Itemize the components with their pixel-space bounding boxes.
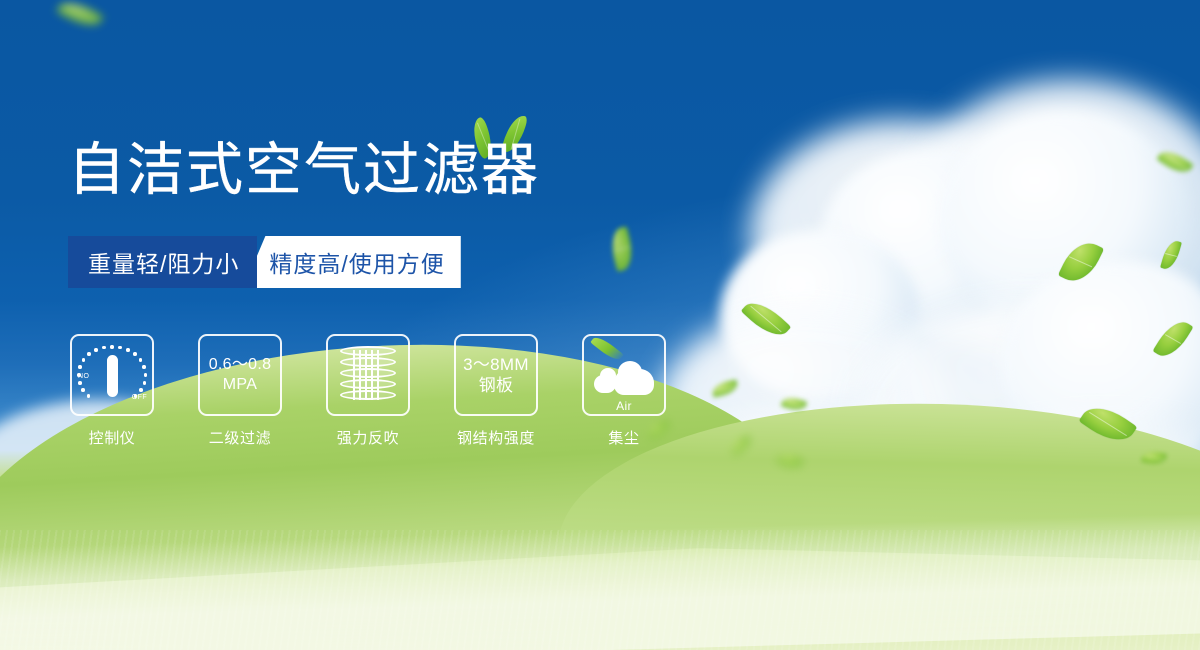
feature-label: 集尘 <box>608 427 639 448</box>
air-label: Air <box>592 399 656 413</box>
gauge-dial-icon: NO OFF <box>70 334 154 416</box>
feature-label: 二级过滤 <box>209 427 271 448</box>
field-texture <box>0 530 1200 650</box>
tag-left: 重量轻/阻力小 <box>68 236 257 288</box>
feature-item-control: NO OFF 控制仪 <box>70 334 154 448</box>
feature-item-pressure: 0.6～0.8 MPA 二级过滤 <box>198 334 282 448</box>
feature-item-steel: 3～8MM 钢板 钢结构强度 <box>454 334 538 448</box>
gauge-graphic: NO OFF <box>79 343 145 407</box>
product-banner: 自洁式空气过滤器 重量轻/阻力小 精度高/使用方便 <box>0 0 1200 650</box>
filter-graphic <box>340 346 396 404</box>
grass-field <box>0 480 1200 650</box>
feature-list: NO OFF 控制仪 0.6～0.8 MPA 二级过滤 <box>70 334 666 448</box>
gauge-label-off: OFF <box>132 394 147 401</box>
cloud-air-icon: Air <box>582 334 666 416</box>
steel-value: 3～8MM 钢板 <box>463 354 529 397</box>
page-title: 自洁式空气过滤器 <box>68 142 540 199</box>
feature-label: 强力反吹 <box>337 427 399 448</box>
gauge-label-no: NO <box>78 373 89 380</box>
feature-label: 钢结构强度 <box>457 427 535 448</box>
tag-right: 精度高/使用方便 <box>243 236 460 288</box>
feature-item-dust: Air 集尘 <box>582 334 666 448</box>
gauge-needle <box>107 355 118 397</box>
pressure-text-icon: 0.6～0.8 MPA <box>198 334 282 416</box>
feature-item-blowback: 强力反吹 <box>326 334 410 448</box>
feature-label: 控制仪 <box>89 427 136 448</box>
steel-plate-text-icon: 3～8MM 钢板 <box>454 334 538 416</box>
pressure-value: 0.6～0.8 MPA <box>209 355 272 395</box>
cloud-air-graphic: Air <box>592 347 656 403</box>
tagline-bar: 重量轻/阻力小 精度高/使用方便 <box>68 236 462 288</box>
leaf-streak-icon <box>590 334 624 363</box>
filter-cartridge-icon <box>326 334 410 416</box>
